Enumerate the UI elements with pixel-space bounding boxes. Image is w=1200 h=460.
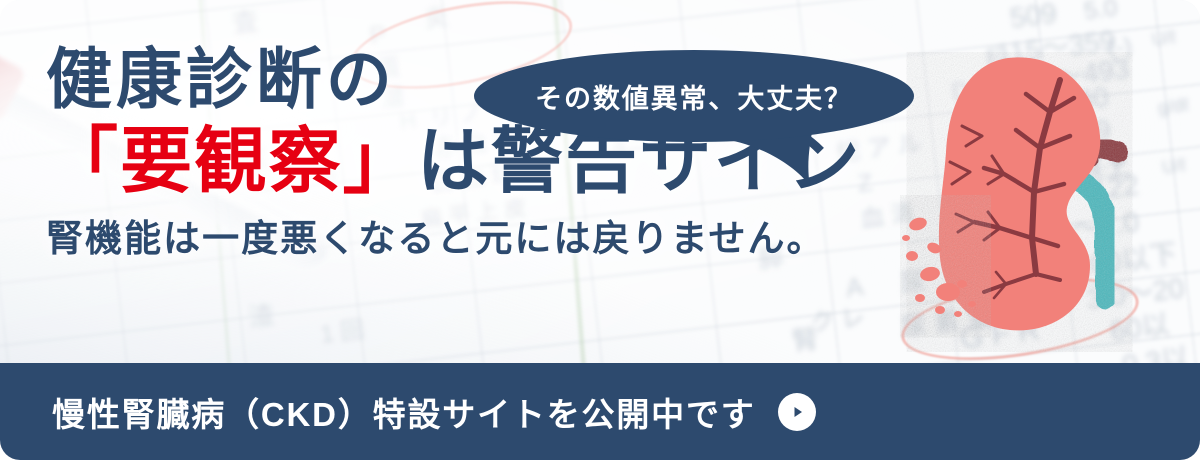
kidney-illustration [900,52,1150,352]
cta-label: 慢性腎臓病（CKD）特設サイトを公開中です [52,388,756,436]
cta-bar[interactable]: 慢性腎臓病（CKD）特設サイトを公開中です [0,363,1200,460]
speech-bubble-text: その数値異常、大丈夫？ [535,77,853,116]
play-circle-icon[interactable] [778,393,816,431]
subheadline: 腎機能は一度悪くなると元には戻りません。 [46,220,926,257]
speech-bubble-body: その数値異常、大丈夫？ [474,50,914,142]
ckd-promo-banner: 査 炎 P 蛋 潜 H リ ノ 尿 B 赤 血 球 白 血 球 4 扁 平 上 … [0,0,1200,460]
headline-emphasis: 「要観察」 [46,122,417,202]
speech-bubble: その数値異常、大丈夫？ [474,50,926,200]
